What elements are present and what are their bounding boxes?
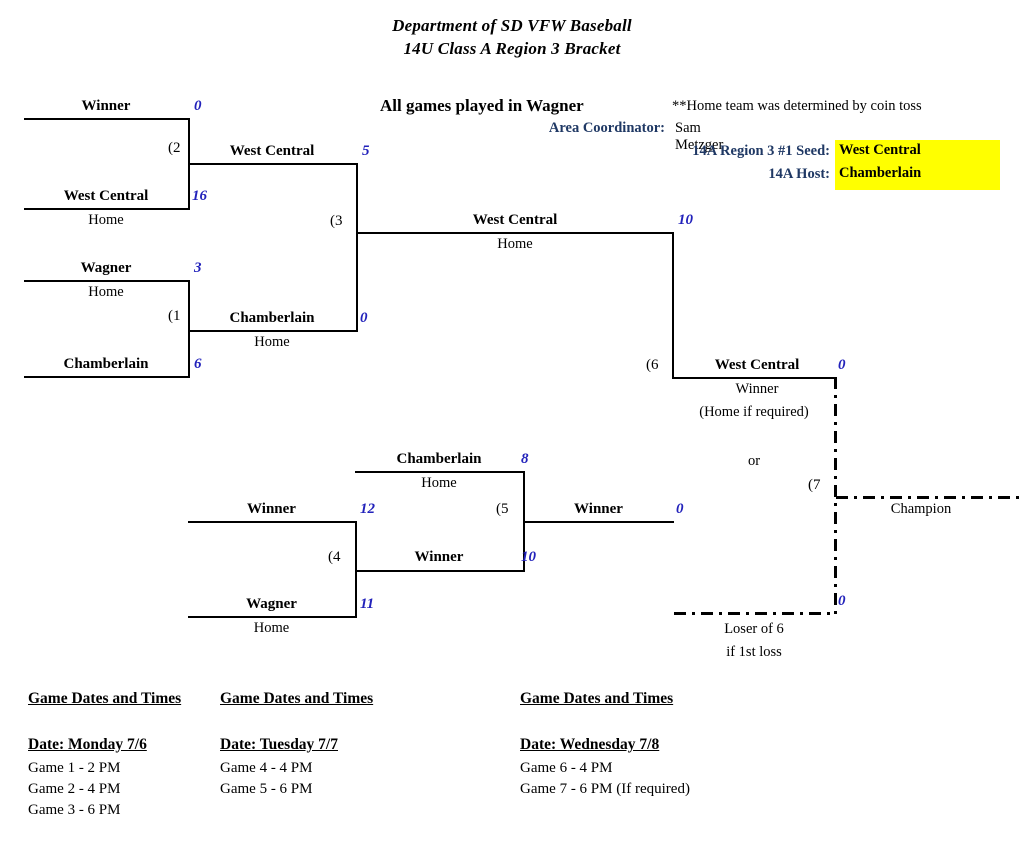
game2-bottom-team: West Central: [24, 188, 188, 205]
game1-number: (1: [168, 308, 181, 325]
game6-bottom-line: [523, 521, 674, 523]
schedule-game-line: Game 1 - 2 PM: [28, 760, 181, 777]
game4-bottom-home-label: Home: [188, 620, 355, 637]
schedule-game-line: Game 3 - 6 PM: [28, 802, 181, 819]
game5-top-home-label: Home: [355, 475, 523, 492]
game6-top-score: 10: [678, 212, 693, 229]
game5-top-line: [355, 471, 523, 473]
game2-top-score: 0: [194, 98, 202, 115]
schedule-date: Date: Tuesday 7/7: [220, 736, 373, 754]
schedule-game-line: Game 2 - 4 PM: [28, 781, 181, 798]
game5-top-team: Chamberlain: [355, 451, 523, 468]
host-label: 14A Host:: [525, 166, 830, 183]
loser-of-6-label: Loser of 6: [672, 621, 836, 638]
game1-bottom-line: [24, 376, 188, 378]
game7-bottom-score: 0: [838, 593, 846, 610]
game6-number: (6: [646, 357, 659, 374]
game3-number: (3: [330, 213, 343, 230]
game6-connector: [672, 232, 674, 379]
game3-bottom-line: [188, 330, 356, 332]
game1-connector: [188, 280, 190, 378]
game1-top-team: Wagner: [24, 260, 188, 277]
game5-bottom-team: Winner: [355, 549, 523, 566]
schedule-date: Date: Monday 7/6: [28, 736, 181, 754]
game1-bottom-score: 6: [194, 356, 202, 373]
game7-top-score: 0: [838, 357, 846, 374]
schedule-column-1: Game Dates and Times Date: Monday 7/6 Ga…: [28, 690, 181, 819]
game6-top-team: West Central: [400, 212, 630, 229]
game7-number: (7: [808, 477, 821, 494]
loser-of-6-line: [674, 612, 836, 615]
game2-number: (2: [168, 140, 181, 157]
game1-top-line: [24, 280, 188, 282]
game2-bottom-home-label: Home: [24, 212, 188, 229]
champion-label: Champion: [856, 501, 986, 518]
champion-line: [836, 496, 1024, 499]
game5-top-score: 8: [521, 451, 529, 468]
schedule-game-line: Game 4 - 4 PM: [220, 760, 373, 777]
game2-top-team: Winner: [24, 98, 188, 115]
game3-top-team: West Central: [188, 143, 356, 160]
game4-top-score: 12: [360, 501, 375, 518]
game4-bottom-team: Wagner: [188, 596, 355, 613]
game5-bottom-score: 10: [521, 549, 536, 566]
schedule-heading: Game Dates and Times: [520, 690, 690, 708]
schedule-column-3: Game Dates and Times Date: Wednesday 7/8…: [520, 690, 690, 798]
region-seed-value: West Central: [839, 142, 921, 159]
game1-top-score: 3: [194, 260, 202, 277]
schedule-heading: Game Dates and Times: [220, 690, 373, 708]
game7-top-line: [672, 377, 836, 379]
game1-bottom-team: Chamberlain: [24, 356, 188, 373]
game7-home-if-required-label: (Home if required): [672, 404, 836, 421]
game6-top-home-label: Home: [400, 236, 630, 253]
schedule-game-line: Game 5 - 6 PM: [220, 781, 373, 798]
schedule-column-2: Game Dates and Times Date: Tuesday 7/7 G…: [220, 690, 373, 798]
game5-bottom-line: [355, 570, 523, 572]
game2-top-line: [24, 118, 188, 120]
venue-subheading: All games played in Wagner: [380, 96, 584, 116]
host-value: Chamberlain: [839, 165, 921, 182]
area-coordinator-label: Area Coordinator:: [520, 120, 665, 137]
coin-toss-note: **Home team was determined by coin toss: [672, 98, 922, 115]
game3-bottom-home-label: Home: [188, 334, 356, 351]
game7-winner-label: Winner: [678, 381, 836, 398]
game3-bottom-team: Chamberlain: [188, 310, 356, 327]
schedule-game-line: Game 6 - 4 PM: [520, 760, 690, 777]
game2-bottom-line: [24, 208, 188, 210]
game4-number: (4: [328, 549, 341, 566]
if-first-loss-label: if 1st loss: [672, 644, 836, 661]
game4-bottom-line: [188, 616, 355, 618]
page-title: Department of SD VFW Baseball 14U Class …: [0, 14, 1024, 60]
game2-bottom-score: 16: [192, 188, 207, 205]
game6-bottom-score: 0: [676, 501, 684, 518]
game4-bottom-score: 11: [360, 596, 374, 613]
region-seed-label: 14A Region 3 #1 Seed:: [525, 143, 830, 160]
title-line-2: 14U Class A Region 3 Bracket: [0, 37, 1024, 60]
game4-top-team: Winner: [188, 501, 355, 518]
game3-bottom-score: 0: [360, 310, 368, 327]
schedule-date: Date: Wednesday 7/8: [520, 736, 690, 754]
game7-top-team: West Central: [678, 357, 836, 374]
game5-number: (5: [496, 501, 509, 518]
game3-connector: [356, 163, 358, 332]
schedule-heading: Game Dates and Times: [28, 690, 181, 708]
game3-top-score: 5: [362, 143, 370, 160]
game3-top-line: [188, 163, 356, 165]
game6-top-line: [356, 232, 672, 234]
game7-or-label: or: [672, 453, 836, 470]
schedule-game-line: Game 7 - 6 PM (If required): [520, 781, 690, 798]
game1-top-home-label: Home: [24, 284, 188, 301]
game6-bottom-team: Winner: [523, 501, 674, 518]
title-line-1: Department of SD VFW Baseball: [0, 14, 1024, 37]
game4-top-line: [188, 521, 355, 523]
